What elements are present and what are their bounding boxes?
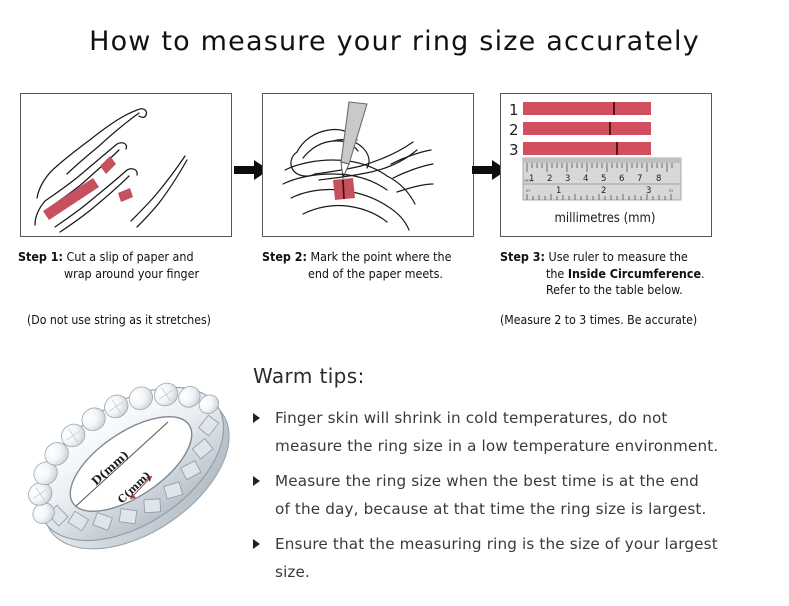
warm-tip-2-line1: Measure the ring size when the best time… [275, 472, 699, 490]
ruler-and-strips-drawing: 1 2 3 [501, 94, 710, 235]
paper-strip-row-1 [523, 102, 651, 115]
triangle-bullet-icon [253, 413, 260, 423]
pen-icon [341, 102, 367, 178]
step-3-line2-prefix: the [546, 266, 568, 281]
strip-label-3: 3 [509, 141, 519, 159]
paper-strip-marked [333, 178, 355, 200]
ruler-unit-mm: mm [524, 179, 533, 184]
ruler-cm-8: 8 [656, 174, 661, 184]
ring-size-guide-page: How to measure your ring size accurately [0, 0, 789, 606]
hand-marking-paper-drawing [263, 94, 472, 235]
step-1-illustration-panel [20, 93, 232, 237]
step-2-label: Step 2: [262, 249, 307, 264]
eternity-ring-illustration: D(mm) C(mm) [12, 352, 250, 582]
warm-tip-1-line2: measure the ring size in a low temperatu… [275, 437, 718, 455]
step-1-label: Step 1: [18, 249, 63, 264]
step-2-line2: end of the paper meets. [262, 266, 494, 283]
ruler-inch-1: 1 [556, 186, 561, 196]
step-1-caption: Step 1: Cut a slip of paper and wrap aro… [18, 249, 258, 282]
paper-strip-row-2 [523, 122, 651, 135]
step-3-caption: Step 3: Use ruler to measure the the Ins… [500, 249, 775, 299]
ruler-cm-4: 4 [583, 174, 588, 184]
step-3-line3: Refer to the table below. [500, 282, 775, 299]
step-1-note: (Do not use string as it stretches) [27, 313, 211, 327]
ruler-cm-3: 3 [565, 174, 570, 184]
ring-diagram: D(mm) C(mm) [12, 352, 250, 582]
strip-label-2: 2 [509, 121, 519, 139]
paper-strip-row-3 [523, 142, 651, 155]
warm-tip-3-line1: Ensure that the measuring ring is the si… [275, 535, 718, 553]
warm-tips-heading: Warm tips: [253, 364, 773, 388]
warm-tip-item-3: Ensure that the measuring ring is the si… [253, 530, 773, 586]
warm-tip-item-2: Measure the ring size when the best time… [253, 467, 773, 523]
ruler-cm-2: 2 [547, 174, 552, 184]
warm-tip-2-line2: of the day, because at that time the rin… [275, 500, 707, 518]
ruler-caption: millimetres (mm) [554, 211, 655, 226]
strip-label-1: 1 [509, 101, 519, 119]
step-3-line2: the Inside Circumference. [500, 266, 775, 283]
step-3-note: (Measure 2 to 3 times. Be accurate) [500, 313, 697, 327]
warm-tips-section: Warm tips: Finger skin will shrink in co… [253, 364, 773, 593]
triangle-bullet-icon [253, 539, 260, 549]
warm-tip-item-1: Finger skin will shrink in cold temperat… [253, 404, 773, 460]
ruler-inch-2: 2 [601, 186, 606, 196]
ruler-unit-inch-right: in [669, 188, 673, 194]
step-3-label: Step 3: [500, 249, 545, 264]
page-title: How to measure your ring size accurately [0, 26, 789, 57]
step-3-line1: Use ruler to measure the [549, 249, 688, 264]
step-1-line1: Cut a slip of paper and [67, 249, 194, 264]
step-3-inside-circumference: Inside Circumference [568, 266, 701, 281]
triangle-bullet-icon [253, 476, 260, 486]
warm-tip-1-line1: Finger skin will shrink in cold temperat… [275, 409, 668, 427]
ruler-unit-inch: in [526, 188, 530, 194]
ruler-cm-5: 5 [601, 174, 606, 184]
warm-tip-3-line2: size. [275, 563, 310, 581]
paper-strip-loose [43, 178, 99, 220]
ruler: 1 2 3 4 5 6 7 8 mm 1 2 3 in [523, 158, 681, 200]
step-2-illustration-panel [262, 93, 474, 237]
ruler-cm-6: 6 [619, 174, 624, 184]
step-1-line2: wrap around your finger [18, 266, 258, 283]
ruler-cm-7: 7 [637, 174, 642, 184]
step-2-caption: Step 2: Mark the point where the end of … [262, 249, 494, 282]
hand-with-paper-strip-drawing [21, 94, 230, 235]
step-3-illustration-panel: 1 2 3 [500, 93, 712, 237]
step-2-line1: Mark the point where the [311, 249, 452, 264]
step-3-line2-suffix: . [701, 266, 705, 281]
